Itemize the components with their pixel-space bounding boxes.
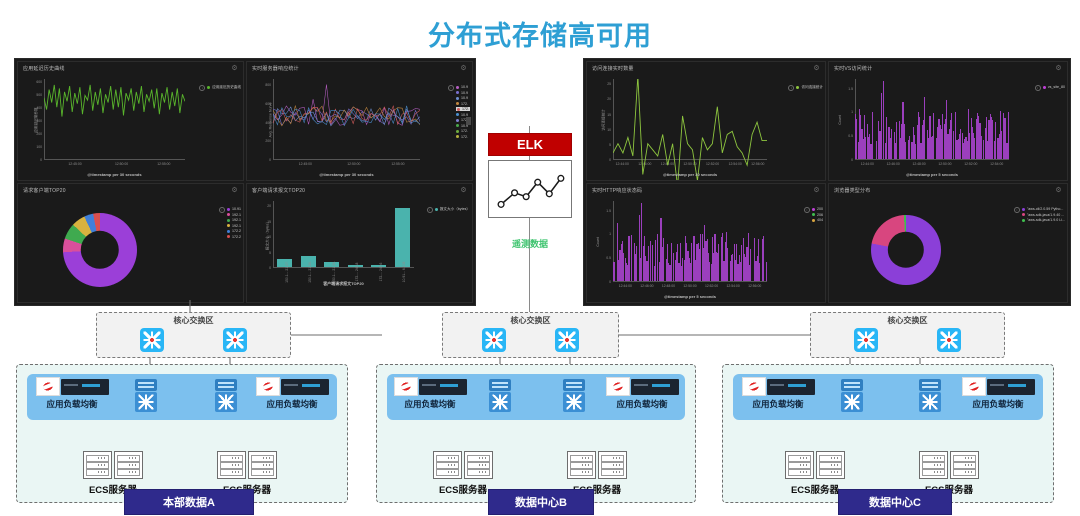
legend-item[interactable]: 10.9 [456, 113, 470, 117]
network-switch-icon[interactable] [555, 328, 579, 352]
chart-legend: i "aws-cli/2.0.59 Pytho..."aws-sdk-java/… [1022, 207, 1065, 222]
histogram-bar[interactable] [933, 113, 934, 159]
y-axis-label: Avg. Response Nurve [268, 102, 272, 137]
legend-label: 200 [817, 207, 823, 211]
legend-swatch [456, 86, 459, 89]
legend-label: 192.1 [232, 218, 241, 222]
server-rack-icon [217, 451, 246, 479]
info-icon[interactable]: i [448, 85, 454, 91]
x-tick: 12:44:00 [861, 162, 874, 166]
appliance-icon [419, 379, 467, 395]
histogram-bar[interactable] [909, 136, 910, 159]
x-tick: 12:54:00 [727, 284, 740, 288]
legend-label: 10.9 [461, 113, 468, 117]
x-axis-label: @timestamp per 30 seconds [613, 172, 767, 177]
legend-label: "aws-sdk-java/1.9.0 Li... [1027, 218, 1065, 222]
legend-item[interactable]: "aws-cli/2.0.59 Pytho... [1022, 207, 1065, 211]
core-zone-label: 核心交换区 [443, 315, 618, 326]
telemetry-label: 遥测数据 [488, 237, 572, 250]
core-zone-a: 核心交换区 [96, 312, 291, 358]
y-tick: 5 [269, 251, 271, 255]
gear-icon[interactable]: ⚙ [231, 65, 238, 72]
histogram-bar[interactable] [995, 122, 996, 159]
panel-title: 浏览器类型分布 [834, 187, 870, 194]
datacenter-c: 应用负载均衡 应用负载均衡 ECS服务器 ECS服务器 [722, 364, 1054, 503]
legend-swatch [456, 97, 459, 100]
legend-swatch [456, 135, 459, 138]
ecs-label: ECS服务器 [433, 482, 493, 496]
load-balancer-b2[interactable]: 应用负载均衡 [601, 377, 683, 410]
switch-node-b2[interactable] [563, 379, 585, 412]
histogram-bar[interactable] [872, 112, 873, 159]
legend-swatch [456, 124, 459, 127]
load-balancer-icon [394, 377, 418, 396]
lb-label: 应用负载均衡 [957, 398, 1039, 410]
y-tick: 0 [851, 158, 853, 162]
legend-label: 访问连接统计 [801, 85, 823, 90]
server-rack-icon [83, 451, 112, 479]
y-tick: 15 [267, 220, 271, 224]
bar-series [273, 201, 414, 268]
appliance-icon [987, 379, 1035, 395]
y-axis-label: 访问连接统计 [601, 109, 606, 131]
chart-legend: i vs_site_80 [1043, 85, 1065, 89]
switch-node-a1[interactable] [135, 379, 157, 412]
lb-label: 应用负载均衡 [31, 398, 113, 410]
panel-title: 访问连接实时数量 [592, 65, 634, 72]
legend-item[interactable]: 206 [812, 213, 823, 217]
legend-swatch [227, 224, 230, 227]
legend-item[interactable]: 10.9 [456, 96, 470, 100]
chart-legend: i 访问连接统计 [796, 85, 823, 90]
legend-label: 10.9 [461, 96, 468, 100]
legend-scrollbar[interactable] [466, 117, 471, 125]
load-balancer-icon [962, 377, 986, 396]
y-tick: 600 [265, 102, 271, 106]
legend-swatch [456, 113, 459, 116]
x-tick: 10.91... 6.108 [402, 262, 406, 283]
network-switch-icon[interactable] [223, 328, 247, 352]
y-tick: 10 [267, 235, 271, 239]
server-rack-icon [433, 451, 462, 479]
y-tick: 5 [609, 143, 611, 147]
info-icon[interactable]: i [1014, 207, 1020, 213]
core-zone-c: 核心交换区 [810, 312, 1005, 358]
legend-swatch [812, 213, 815, 216]
y-tick: 800 [265, 83, 271, 87]
y-tick: 0 [40, 158, 42, 162]
legend-item[interactable]: 200 [812, 207, 823, 211]
y-tick: 0.5 [848, 134, 853, 138]
switch-node-a2[interactable] [215, 379, 237, 412]
legend-swatch [812, 208, 815, 211]
chart-plot-area: Count 1.5 1 0.5 0 12:44:0012:46:0012:48:… [613, 201, 767, 282]
y-tick: 400 [265, 121, 271, 125]
datacenter-a: 应用负载均衡 应用负载均衡 ECS服务器 ECS服务器 [16, 364, 348, 503]
histogram-bar[interactable] [628, 236, 629, 281]
bar[interactable] [395, 208, 410, 267]
y-tick: 1.5 [848, 87, 853, 91]
y-tick: 10 [607, 128, 611, 132]
datacenter-a-label: 本部数据A [124, 489, 254, 515]
load-balancer-c1[interactable]: 应用负载均衡 [737, 377, 819, 410]
y-axis-label: Count [838, 115, 842, 125]
x-tick: 172.... 247.8 [355, 263, 359, 282]
gear-icon[interactable]: ⚙ [460, 65, 467, 72]
histogram-bar[interactable] [953, 131, 954, 159]
legend-swatch [456, 130, 459, 133]
appliance-icon [767, 379, 815, 395]
ecs-group-c1[interactable]: ECS服务器 [785, 451, 845, 496]
histogram-bar[interactable] [718, 244, 719, 281]
elk-title: ELK [488, 133, 572, 156]
panel-title: 实时VS访问统计 [834, 65, 872, 72]
legend-item[interactable]: 404 [812, 218, 823, 222]
load-balancer-c2[interactable]: 应用负载均衡 [957, 377, 1039, 410]
legend-label: 172. [461, 129, 468, 133]
chart-legend: i 10.910.910.9172.172.10.9172.10.9172.17… [456, 85, 470, 139]
legend-item[interactable]: 172.2 [227, 235, 241, 239]
ecs-label: ECS服务器 [785, 482, 845, 496]
histogram-bar[interactable] [671, 243, 672, 281]
y-axis-label: Count [596, 237, 600, 247]
y-tick: 20 [267, 204, 271, 208]
info-icon[interactable]: i [219, 207, 225, 213]
x-tick: 12:56:00 [748, 284, 761, 288]
y-tick: 100 [36, 145, 42, 149]
chart-legend: i 报文大小（bytes） [435, 207, 470, 212]
legend-swatch [435, 208, 438, 211]
panel-app-latency[interactable]: 应用延迟历史曲线 ⚙ 应用延迟毫秒数 600 500 400 300 200 1… [17, 61, 244, 181]
panel-title: 客户端请求报文TOP20 [252, 187, 305, 194]
lb-label: 应用负载均衡 [737, 398, 819, 410]
legend-label: "aws-sdk-java/1.9.40 ... [1027, 213, 1064, 217]
histogram-bar[interactable] [727, 248, 728, 281]
legend-label: 172. [461, 102, 468, 106]
x-tick: 12:46:00 [887, 162, 900, 166]
load-balancer-b1[interactable]: 应用负载均衡 [389, 377, 471, 410]
server-rack-icon [950, 451, 979, 479]
legend-item[interactable]: 10.9 [456, 85, 470, 89]
y-tick: 0.5 [606, 256, 611, 260]
server-rack-icon [567, 451, 596, 479]
right-dashboard: 访问连接实时数量 ⚙ 访问连接统计 25 20 15 10 5 0 12:44:… [583, 58, 1071, 306]
legend-item[interactable]: 192.1 [227, 224, 241, 228]
gear-icon[interactable]: ⚙ [460, 187, 467, 194]
appliance-icon [631, 379, 679, 395]
info-icon[interactable]: i [788, 85, 794, 91]
y-tick: 0 [609, 158, 611, 162]
lb-label: 应用负载均衡 [251, 398, 333, 410]
info-icon[interactable]: i [804, 207, 810, 213]
panel-title: 实时HTTP响应状态码 [592, 187, 642, 194]
info-icon[interactable]: i [199, 85, 205, 91]
network-switch-icon[interactable] [482, 328, 506, 352]
histogram-bar[interactable] [750, 249, 751, 281]
legend-swatch [1022, 219, 1025, 222]
legend-label: "aws-cli/2.0.59 Pytho... [1027, 207, 1063, 211]
legend-label: 206 [817, 213, 823, 217]
histogram-bar[interactable] [631, 235, 632, 281]
x-axis-label: 客户端请求报文TOP20 [273, 281, 414, 287]
panel-browser-type[interactable]: 浏览器类型分布 ⚙ i "aws-cli/2.0.59 Pytho..."aws… [828, 183, 1068, 303]
legend-item[interactable]: 172. [456, 102, 470, 106]
legend-label: 应用延迟历史曲线 [212, 85, 241, 90]
histogram-series [855, 79, 1009, 160]
x-tick: 12:54:00 [990, 162, 1003, 166]
x-tick: 12:46:00 [640, 284, 653, 288]
server-rack-icon [114, 451, 143, 479]
y-tick: 0 [269, 158, 271, 162]
legend-label: 172. [462, 107, 469, 111]
legend-item[interactable]: 10.91 [227, 207, 241, 211]
legend-item[interactable]: 访问连接统计 [796, 85, 823, 90]
legend-label: vs_site_80 [1048, 85, 1065, 89]
gear-icon[interactable]: ⚙ [1055, 187, 1062, 194]
histogram-bar[interactable] [663, 238, 664, 281]
histogram-bar[interactable] [759, 263, 760, 281]
legend-label: 192.1 [232, 224, 241, 228]
histogram-bar[interactable] [652, 245, 653, 281]
x-tick: 12:48:00 [912, 162, 925, 166]
legend-item[interactable]: 10.9 [456, 91, 470, 95]
histogram-bar[interactable] [614, 262, 615, 281]
panel-client-top20[interactable]: 请求客户端TOP20 ⚙ i 10.91192.1192.1192.1172.2… [17, 183, 244, 303]
gear-icon[interactable]: ⚙ [231, 187, 238, 194]
x-tick: 12:52:00 [705, 284, 718, 288]
switch-node-c1[interactable] [841, 379, 863, 412]
x-tick: 172.... 247.6 [379, 263, 383, 282]
legend-item[interactable]: 172. [456, 129, 470, 133]
appliance-icon [281, 379, 329, 395]
server-rack-icon [598, 451, 627, 479]
server-rack-icon [248, 451, 277, 479]
chart-legend: i 10.91192.1192.1192.1172.2172.2 [227, 207, 241, 239]
legend-label: 192.1 [232, 213, 241, 217]
legend-swatch [227, 208, 230, 211]
chart-legend: i 200206404 [812, 207, 823, 222]
chart-plot-area: 报文大小（bytes） 20 15 10 5 0 150.1... 21.27.… [273, 201, 414, 268]
x-axis-label: @timestamp per 5 seconds [613, 294, 767, 299]
switch-node-b1[interactable] [489, 379, 511, 412]
histogram-bar[interactable] [876, 141, 877, 159]
appliance-icon [61, 379, 109, 395]
legend-swatch [796, 86, 799, 89]
core-zone-label: 核心交换区 [97, 315, 290, 326]
panel-http-status[interactable]: 实时HTTP响应状态码 ⚙ Count 1.5 1 0.5 0 12:44:00… [586, 183, 826, 303]
legend-label: 10.91 [232, 207, 241, 211]
x-axis-label: @timestamp per 5 seconds [855, 172, 1009, 177]
y-tick: 1 [851, 110, 853, 114]
datacenter-c-label: 数据中心C [838, 489, 952, 515]
y-tick: 200 [36, 132, 42, 136]
load-balancer-a1[interactable]: 应用负载均衡 [31, 377, 113, 410]
histogram-bar[interactable] [881, 93, 882, 159]
x-tick: 12:50:00 [938, 162, 951, 166]
y-tick: 25 [607, 82, 611, 86]
legend-item[interactable]: vs_site_80 [1043, 85, 1065, 89]
line-series [613, 79, 767, 181]
legend-label: 404 [817, 218, 823, 222]
load-balancer-icon [256, 377, 280, 396]
legend-swatch [456, 102, 459, 105]
load-balancer-icon [742, 377, 766, 396]
histogram-bar[interactable] [981, 136, 982, 159]
histogram-bar[interactable] [924, 97, 925, 159]
legend-label: 10.9 [461, 91, 468, 95]
ecs-group-b1[interactable]: ECS服务器 [433, 451, 493, 496]
legend-swatch [1022, 208, 1025, 211]
legend-label: 172.2 [232, 235, 241, 239]
line-chart-icon [488, 160, 572, 218]
line-series [44, 79, 185, 181]
legend-swatch [227, 219, 230, 222]
donut-chart[interactable] [871, 215, 941, 285]
legend-swatch [457, 108, 460, 111]
donut-chart[interactable] [63, 213, 137, 287]
legend-swatch [227, 235, 230, 238]
x-tick: 12:44:00 [619, 284, 632, 288]
legend-item[interactable]: 应用延迟历史曲线 [207, 85, 241, 90]
switch-node-c2[interactable] [919, 379, 941, 412]
legend-swatch [227, 230, 230, 233]
info-icon[interactable]: i [427, 207, 433, 213]
legend-label: 10.9 [461, 85, 468, 89]
lb-label: 应用负载均衡 [389, 398, 471, 410]
info-icon[interactable]: i [1035, 85, 1041, 91]
legend-swatch [1043, 86, 1046, 89]
legend-item[interactable]: 192.1 [227, 213, 241, 217]
legend-item[interactable]: "aws-sdk-java/1.9.0 Li... [1022, 218, 1065, 222]
histogram-bar[interactable] [636, 246, 637, 281]
histogram-bar[interactable] [648, 246, 649, 281]
panel-title: 实时服务器响应统计 [252, 65, 299, 72]
elk-block[interactable]: ELK 遥测数据 [488, 133, 572, 218]
server-rack-icon [919, 451, 948, 479]
legend-label: 报文大小（bytes） [440, 207, 470, 212]
x-tick: 150.1... 21.26. [332, 261, 336, 283]
legend-item[interactable]: 192.1 [227, 218, 241, 222]
line-series-group [273, 79, 420, 181]
x-tick: 12:48:00 [662, 284, 675, 288]
core-zone-label: 核心交换区 [811, 315, 1004, 326]
legend-item[interactable]: 172. [456, 135, 470, 139]
panel-title: 应用延迟历史曲线 [23, 65, 65, 72]
left-dashboard: 应用延迟历史曲线 ⚙ 应用延迟毫秒数 600 500 400 300 200 1… [14, 58, 476, 306]
panel-server-response[interactable]: 实时服务器响应统计 ⚙ Avg. Response Nurve 800 600 … [246, 61, 473, 181]
histogram-bar[interactable] [763, 236, 764, 281]
legend-label: 172. [461, 135, 468, 139]
histogram-bar[interactable] [905, 142, 906, 159]
panel-client-request-bytes[interactable]: 客户端请求报文TOP20 ⚙ 报文大小（bytes） 20 15 10 5 0 … [246, 183, 473, 303]
y-tick: 400 [36, 106, 42, 110]
line-chart-icon-svg [489, 161, 571, 215]
page-title: 分布式存储高可用 [0, 14, 1080, 53]
y-tick: 20 [607, 97, 611, 101]
legend-item[interactable]: 172.2 [227, 229, 241, 233]
y-tick: 600 [36, 80, 42, 84]
y-tick: 0 [609, 280, 611, 284]
x-tick: 12:50:00 [683, 284, 696, 288]
histogram-bar[interactable] [896, 122, 897, 159]
network-switch-icon[interactable] [140, 328, 164, 352]
legend-swatch [1022, 213, 1025, 216]
y-tick: 15 [607, 113, 611, 117]
gear-icon[interactable]: ⚙ [1055, 65, 1062, 72]
gear-icon[interactable]: ⚙ [813, 65, 820, 72]
legend-swatch [456, 91, 459, 94]
server-rack-icon [464, 451, 493, 479]
legend-swatch [456, 119, 459, 122]
chart-plot-area: 访问连接统计 25 20 15 10 5 0 12:44:0012:46:001… [613, 79, 767, 160]
chart-plot-area: Avg. Response Nurve 800 600 400 200 0 12… [273, 79, 420, 160]
y-tick: 200 [265, 139, 271, 143]
network-switch-icon[interactable] [854, 328, 878, 352]
legend-label: 172.2 [232, 229, 241, 233]
histogram-bar[interactable] [886, 117, 887, 159]
load-balancer-a2[interactable]: 应用负载均衡 [251, 377, 333, 410]
datacenter-b-label: 数据中心B [488, 489, 594, 515]
x-axis-label: @timestamp per 30 seconds [44, 172, 185, 177]
legend-swatch [207, 86, 210, 89]
panel-vs-access[interactable]: 实时VS访问统计 ⚙ Count 1.5 1 0.5 0 12:44:0012:… [828, 61, 1068, 181]
y-tick: 1.5 [606, 209, 611, 213]
server-rack-icon [785, 451, 814, 479]
y-tick: 500 [36, 93, 42, 97]
network-switch-icon[interactable] [937, 328, 961, 352]
legend-item[interactable]: 报文大小（bytes） [435, 207, 470, 212]
histogram-bar[interactable] [891, 129, 892, 159]
x-tick: 150.1... 21.27. [285, 261, 289, 283]
legend-swatch [812, 219, 815, 222]
panel-title: 请求客户端TOP20 [23, 187, 66, 194]
load-balancer-icon [36, 377, 60, 396]
histogram-bar[interactable] [657, 234, 658, 281]
core-zone-b: 核心交换区 [442, 312, 619, 358]
gear-icon[interactable]: ⚙ [813, 187, 820, 194]
legend-item[interactable]: 172. [456, 107, 470, 111]
x-tick: 150.1... 21.26. [308, 261, 312, 283]
x-axis-label: @timestamp per 30 seconds [273, 172, 420, 177]
x-tick: 12:52:00 [964, 162, 977, 166]
panel-realtime-connections[interactable]: 访问连接实时数量 ⚙ 访问连接统计 25 20 15 10 5 0 12:44:… [586, 61, 826, 181]
histogram-bar[interactable] [1008, 112, 1009, 159]
lb-label: 应用负载均衡 [601, 398, 683, 410]
y-tick: 300 [36, 119, 42, 123]
legend-item[interactable]: "aws-sdk-java/1.9.40 ... [1022, 213, 1065, 217]
histogram-series [613, 201, 767, 282]
histogram-bar[interactable] [766, 262, 767, 281]
y-tick: 0 [269, 266, 271, 270]
server-rack-icon [816, 451, 845, 479]
chart-legend: i 应用延迟历史曲线 [207, 85, 241, 90]
chart-plot-area: 应用延迟毫秒数 600 500 400 300 200 100 0 12:45:… [44, 79, 185, 160]
legend-swatch [227, 213, 230, 216]
y-tick: 1 [609, 232, 611, 236]
load-balancer-icon [606, 377, 630, 396]
datacenter-b: 应用负载均衡 应用负载均衡 ECS服务器 ECS服务器 [376, 364, 696, 503]
chart-plot-area: Count 1.5 1 0.5 0 12:44:0012:46:0012:48:… [855, 79, 1009, 160]
